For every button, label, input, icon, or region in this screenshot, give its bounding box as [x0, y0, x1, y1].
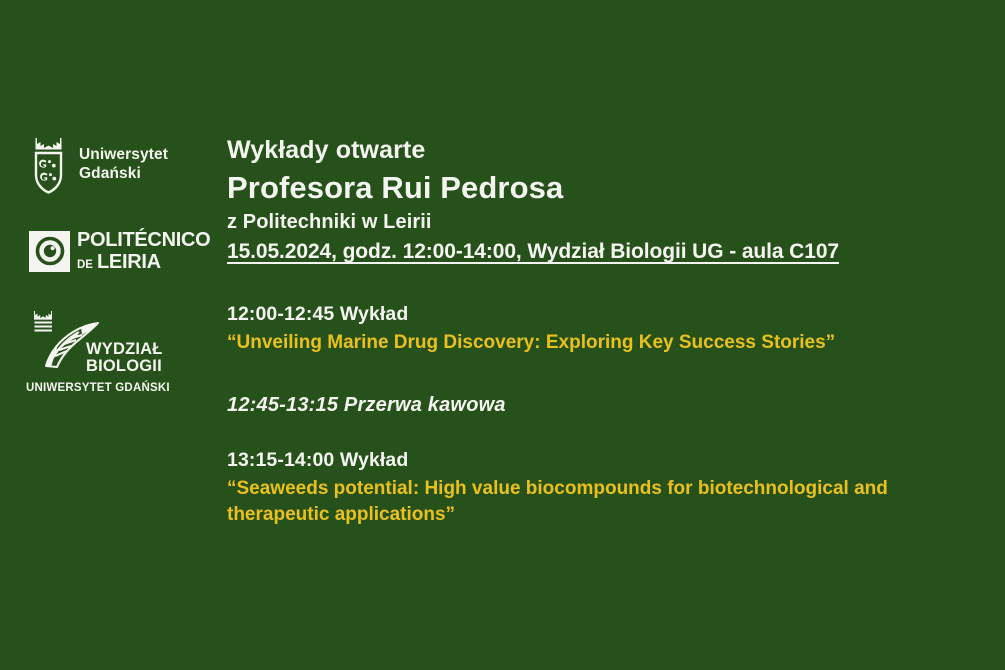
politecnico-leiria: LEIRIA: [97, 252, 161, 272]
program-item-time: 12:00-12:45 Wykład: [227, 303, 987, 326]
program-break-label: 12:45-13:15 Przerwa kawowa: [227, 394, 987, 417]
ug-crest-icon: [28, 135, 70, 195]
ug-logo-line1: Uniwersytet: [79, 146, 168, 165]
program-item: 13:15-14:00 Wykład “Seaweeds potential: …: [227, 449, 987, 528]
wydzial-biologii-line2: BIOLOGII: [86, 358, 163, 375]
poster-kicker: Wykłady otwarte: [227, 136, 425, 165]
politecnico-wordmark: POLITÉCNICO DE LEIRIA: [77, 230, 210, 272]
logo-wydzial-biologii: WYDZIAŁ BIOLOGII UNIWERSYTET GDAŃSKI: [26, 305, 211, 393]
wydzial-biologii-line1: WYDZIAŁ: [86, 341, 163, 358]
politecnico-eye-icon: [29, 231, 70, 272]
politecnico-de: DE: [77, 260, 93, 272]
program-item: 12:00-12:45 Wykład “Unveiling Marine Dru…: [227, 303, 987, 356]
logo-politecnico-de-leiria: POLITÉCNICO DE LEIRIA: [29, 229, 209, 273]
program-item-time: 13:15-14:00 Wykład: [227, 449, 987, 472]
program-item-title: “Seaweeds potential: High value biocompo…: [227, 476, 987, 528]
program-item-break: 12:45-13:15 Przerwa kawowa: [227, 394, 987, 417]
poster-datetime-location: 15.05.2024, godz. 12:00-14:00, Wydział B…: [227, 240, 839, 264]
poster-affiliation: z Politechniki w Leirii: [227, 211, 432, 234]
lecture-poster: Uniwersytet Gdański POLITÉCNICO DE LEIRI…: [0, 0, 1005, 670]
logo-university-of-gdansk: Uniwersytet Gdański: [28, 134, 198, 196]
program-item-title: “Unveiling Marine Drug Discovery: Explor…: [227, 330, 987, 356]
poster-title: Profesora Rui Pedrosa: [227, 170, 563, 206]
politecnico-line1: POLITÉCNICO: [77, 230, 210, 250]
ug-logo-line2: Gdański: [79, 165, 168, 184]
logo-column: Uniwersytet Gdański POLITÉCNICO DE LEIRI…: [0, 0, 220, 670]
poster-content: Wykłady otwarte Profesora Rui Pedrosa z …: [227, 0, 1002, 670]
wydzial-biologii-subtitle: UNIWERSYTET GDAŃSKI: [26, 382, 170, 394]
wydzial-biologii-wordmark: WYDZIAŁ BIOLOGII: [86, 341, 163, 376]
ug-logo-wordmark: Uniwersytet Gdański: [79, 146, 168, 184]
